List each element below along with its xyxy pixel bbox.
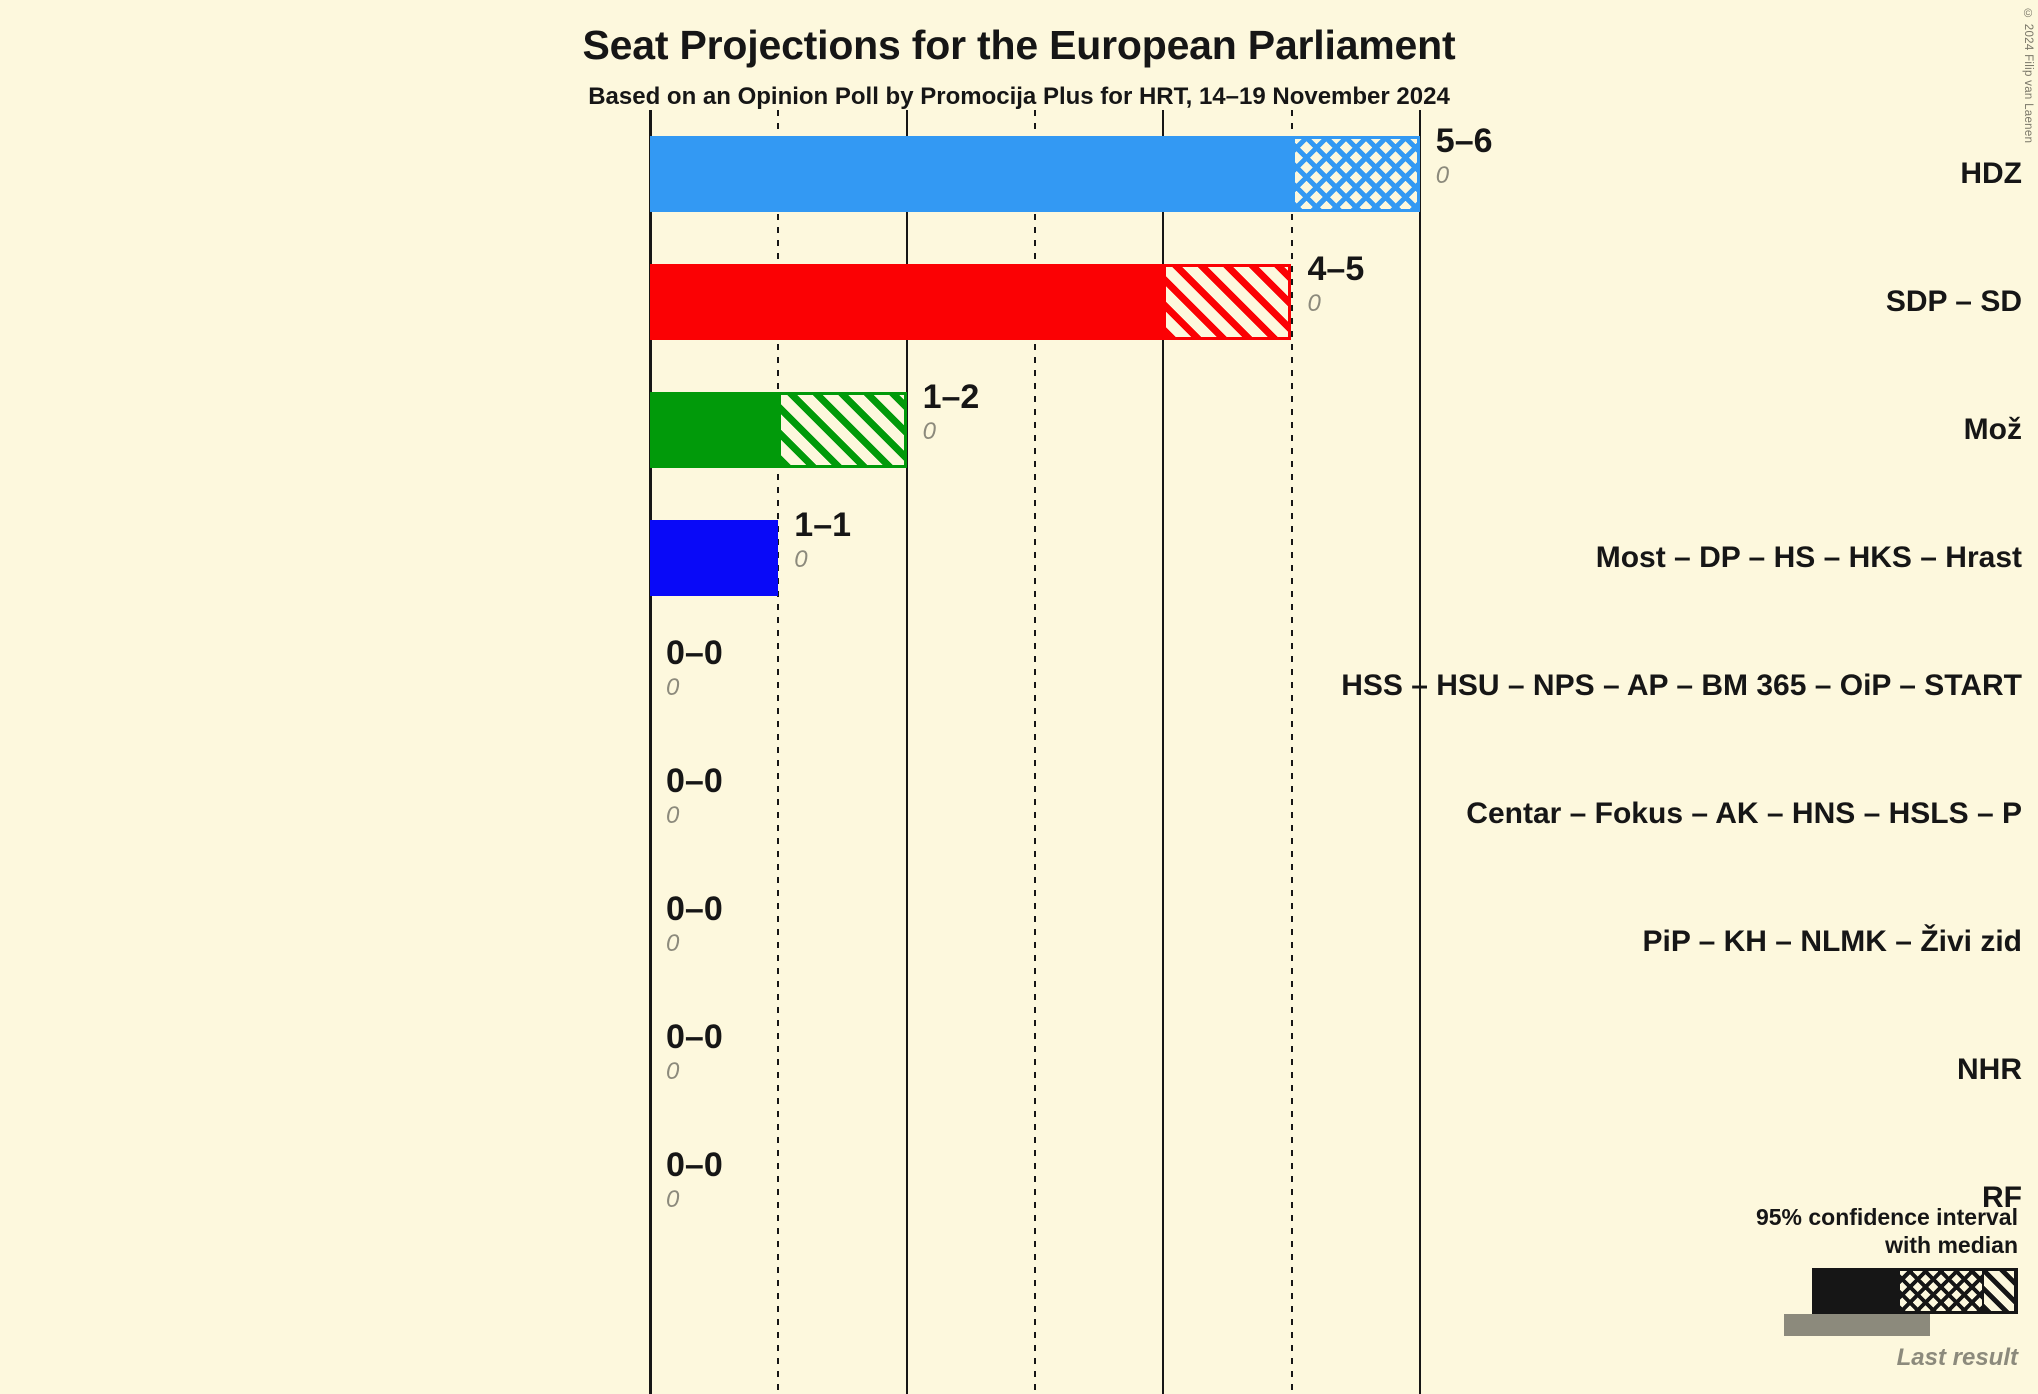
party-label-2: SDP – SD bbox=[1402, 238, 2038, 366]
bar-group bbox=[650, 392, 907, 468]
bar-row: SDP – SD4–50 bbox=[0, 238, 2038, 366]
plot-area: HDZ5–60SDP – SD4–50Mož1–20Most – DP – HS… bbox=[0, 110, 2038, 1394]
party-label-3: Mož bbox=[1402, 366, 2038, 494]
last-result-value: 0 bbox=[1436, 158, 1493, 194]
bar-confidence-segment bbox=[1163, 264, 1291, 340]
bar-median-segment bbox=[650, 520, 778, 596]
legend-crosshatch-swatch bbox=[1900, 1271, 1982, 1311]
chart-subtitle: Based on an Opinion Poll by Promocija Pl… bbox=[0, 83, 2038, 111]
chart-legend: 95% confidence interval with median Last… bbox=[1688, 1203, 2018, 1372]
last-result-value: 0 bbox=[666, 798, 723, 834]
party-label-8: NHR bbox=[1402, 1006, 2038, 1134]
bar-median-segment bbox=[650, 136, 1292, 212]
bar-median-segment bbox=[650, 264, 1163, 340]
value-block: 4–50 bbox=[1308, 252, 1365, 322]
value-block: 0–00 bbox=[666, 892, 723, 962]
seat-range-label: 0–0 bbox=[666, 1020, 723, 1054]
chart-root: Seat Projections for the European Parlia… bbox=[0, 0, 2038, 1394]
seat-range-label: 4–5 bbox=[1308, 252, 1365, 286]
bar-confidence-segment bbox=[778, 392, 906, 468]
party-label-5: HSS – HSU – NPS – AP – BM 365 – OiP – ST… bbox=[1402, 622, 2038, 750]
value-block: 0–00 bbox=[666, 764, 723, 834]
bar-row: PiP – KH – NLMK – Živi zid0–00 bbox=[0, 878, 2038, 1006]
last-result-value: 0 bbox=[666, 1182, 723, 1218]
party-label-7: PiP – KH – NLMK – Živi zid bbox=[1402, 878, 2038, 1006]
legend-last-result-label: Last result bbox=[1688, 1344, 2018, 1372]
legend-last-result-swatch bbox=[1784, 1314, 1930, 1336]
bar-row: Centar – Fokus – AK – HNS – HSLS – P0–00 bbox=[0, 750, 2038, 878]
legend-line-2: with median bbox=[1688, 1231, 2018, 1259]
value-block: 1–10 bbox=[794, 508, 851, 578]
seat-range-label: 0–0 bbox=[666, 764, 723, 798]
party-label-1: HDZ bbox=[1402, 110, 2038, 238]
value-block: 0–00 bbox=[666, 636, 723, 706]
last-result-value: 0 bbox=[666, 1054, 723, 1090]
bar-row: Mož1–20 bbox=[0, 366, 2038, 494]
bar-confidence-segment bbox=[1292, 136, 1420, 212]
seat-range-label: 5–6 bbox=[1436, 124, 1493, 158]
value-block: 0–00 bbox=[666, 1020, 723, 1090]
last-result-value: 0 bbox=[794, 542, 851, 578]
seat-range-label: 0–0 bbox=[666, 892, 723, 926]
bar-row: HSS – HSU – NPS – AP – BM 365 – OiP – ST… bbox=[0, 622, 2038, 750]
last-result-value: 0 bbox=[923, 414, 980, 450]
bar-group bbox=[650, 264, 1292, 340]
page-title: Seat Projections for the European Parlia… bbox=[0, 22, 2038, 69]
value-block: 1–20 bbox=[923, 380, 980, 450]
bar-row: Most – DP – HS – HKS – Hrast1–10 bbox=[0, 494, 2038, 622]
bar-row: HDZ5–60 bbox=[0, 110, 2038, 238]
value-block: 0–00 bbox=[666, 1148, 723, 1218]
legend-line-1: 95% confidence interval bbox=[1688, 1203, 2018, 1231]
bar-group bbox=[650, 136, 1420, 212]
seat-range-label: 0–0 bbox=[666, 1148, 723, 1182]
party-label-4: Most – DP – HS – HKS – Hrast bbox=[1402, 494, 2038, 622]
legend-diagonal-swatch bbox=[1984, 1271, 2014, 1311]
seat-range-label: 0–0 bbox=[666, 636, 723, 670]
bar-median-segment bbox=[650, 392, 778, 468]
value-block: 5–60 bbox=[1436, 124, 1493, 194]
last-result-value: 0 bbox=[666, 926, 723, 962]
legend-sample-bar bbox=[1688, 1268, 2018, 1314]
seat-range-label: 1–2 bbox=[923, 380, 980, 414]
seat-range-label: 1–1 bbox=[794, 508, 851, 542]
last-result-value: 0 bbox=[1308, 286, 1365, 322]
last-result-value: 0 bbox=[666, 670, 723, 706]
bar-row: NHR0–00 bbox=[0, 1006, 2038, 1134]
bar-group bbox=[650, 520, 778, 596]
party-label-6: Centar – Fokus – AK – HNS – HSLS – P bbox=[1402, 750, 2038, 878]
